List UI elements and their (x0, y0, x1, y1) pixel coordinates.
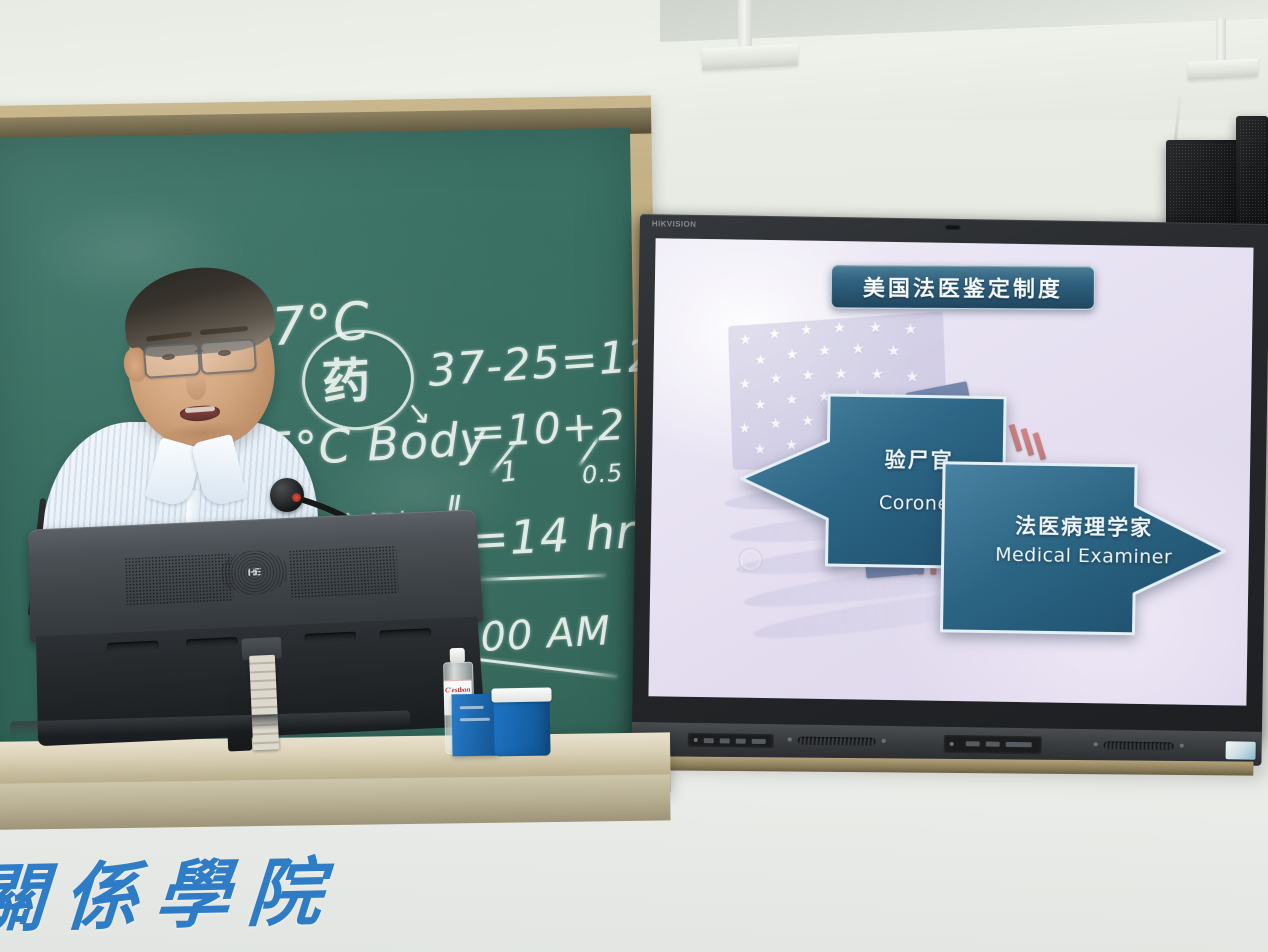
screw-icon (788, 737, 792, 741)
volume-down-button[interactable] (720, 738, 730, 743)
volume-up-button[interactable] (736, 739, 746, 744)
power-panel[interactable] (688, 733, 774, 748)
source-button[interactable] (752, 739, 766, 744)
slide-title-text: 美国法医鉴定制度 (863, 271, 1063, 304)
flag-star: ★ (801, 368, 814, 383)
flag-star: ★ (870, 367, 884, 383)
chalk-arrow-icon: ↘ (404, 395, 434, 433)
lectern-front (0, 774, 671, 830)
flag-star: ★ (768, 327, 781, 342)
speaker-grille-left (798, 737, 876, 746)
flag-star: ★ (834, 366, 848, 382)
interactive-display[interactable]: HIKVISION ★ ★ ★ ★ ★ ★ ★ ★ (631, 214, 1268, 776)
carton-marking (460, 706, 484, 709)
display-bezel: HIKVISION ★ ★ ★ ★ ★ ★ ★ ★ (632, 214, 1268, 740)
audio-port-icon[interactable] (1006, 742, 1032, 747)
bottle-brand-text: C'estbon (445, 686, 471, 695)
flag-star: ★ (739, 332, 752, 347)
flag-star: ★ (833, 320, 847, 336)
medical-examiner-label-cn: 法医病理学家 (939, 509, 1254, 545)
cup-body (494, 700, 551, 757)
bottle-cap (450, 648, 465, 663)
flag-star: ★ (770, 372, 783, 387)
cup-rim (491, 687, 551, 702)
chalk-denominator-2: 0.5 (581, 459, 624, 490)
chalk-time: :00 AM (465, 608, 612, 662)
flag-star: ★ (818, 343, 832, 359)
arrow-medical-examiner: 法医病理学家 Medical Examiner (937, 459, 1230, 640)
monitor-speaker-grille-left (124, 553, 233, 606)
screw-icon (1094, 742, 1098, 746)
monitor-vent (379, 628, 431, 639)
hdmi-port-2-icon[interactable] (986, 741, 1000, 746)
monitor-speaker-grille-right (288, 545, 398, 598)
power-button[interactable] (704, 738, 714, 743)
monitor-vent (304, 632, 356, 643)
monitor-stand-arm (225, 660, 253, 752)
carton-marking-2 (460, 718, 490, 722)
blue-cup (493, 688, 550, 757)
wall-calligraphy: 關係學院 (0, 832, 376, 951)
slide-title-banner: 美国法医鉴定制度 (831, 264, 1095, 309)
camera-icon (945, 225, 961, 230)
usb-port-icon[interactable] (950, 742, 954, 746)
monitor-stand-column (249, 655, 279, 751)
display-screen[interactable]: ★ ★ ★ ★ ★ ★ ★ ★ ★ ★ ★ ★ ★ (648, 238, 1253, 705)
flag-star: ★ (886, 343, 900, 359)
rail-bracket-2-icon (1188, 58, 1258, 80)
flag-star: ★ (905, 369, 920, 385)
presentation-slide: ★ ★ ★ ★ ★ ★ ★ ★ ★ ★ ★ ★ ★ (648, 238, 1253, 705)
power-led-icon (694, 738, 698, 742)
monitor-brand-logo: HE (237, 562, 271, 583)
hikvision-brand-logo: HIKVISION (652, 219, 697, 229)
flag-star: ★ (786, 347, 799, 362)
monitor-vent (107, 641, 159, 652)
monitor-vent (186, 637, 238, 648)
device-sticker (1226, 741, 1256, 759)
blue-carton (451, 694, 498, 757)
flag-star: ★ (851, 341, 865, 357)
io-port-panel[interactable] (944, 735, 1042, 755)
screw-icon (882, 739, 886, 743)
screw-icon (1180, 744, 1184, 748)
flag-star: ★ (903, 321, 918, 337)
glasses-lens-right-icon (199, 338, 257, 375)
chalk-eq-2: =10+2 (469, 400, 627, 457)
speaker-grille-right (1104, 741, 1174, 750)
flag-star: ★ (754, 353, 767, 368)
classroom-photo: 37°C 药 37-25=12 25°C Body ↘ =10+2 1 0.5 … (0, 0, 1268, 952)
flag-star: ★ (868, 320, 882, 336)
flag-star: ★ (800, 322, 813, 338)
wall-calligraphy-text: 關係學院 (0, 849, 342, 943)
hdmi-port-icon[interactable] (966, 741, 980, 746)
